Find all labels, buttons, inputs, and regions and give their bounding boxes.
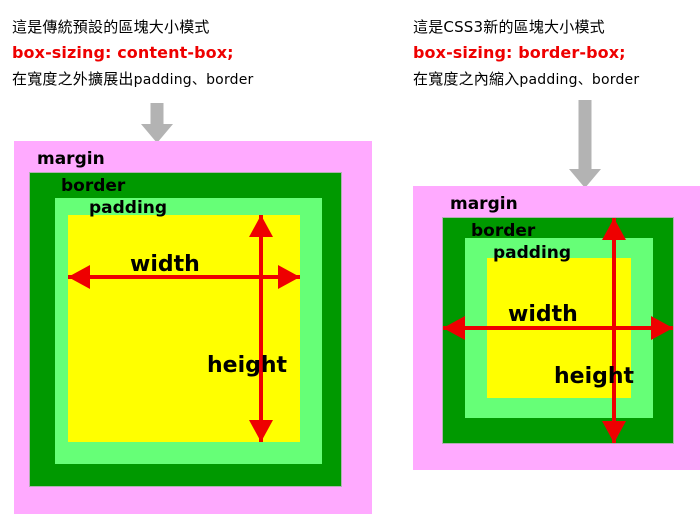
panel-content-box: 這是傳統預設的區塊大小模式 box-sizing: content-box; 在… [0,0,400,514]
label-margin: margin [450,195,518,213]
caption-line-3: 在寬度之外擴展出padding、border [12,66,254,93]
caption-line-1: 這是CSS3新的區塊大小模式 [413,14,639,40]
label-padding: padding [493,244,571,262]
arrow-shaft [579,100,592,170]
caption-line-3-cjk: 在寬度之外擴展出 [12,70,134,88]
label-width: width [130,254,200,276]
label-width: width [508,304,578,326]
label-border: border [61,177,125,195]
arrow-head-right [651,316,673,340]
box-model-border-box: margin border padding width height [413,186,700,470]
arrow-shaft [151,103,164,125]
caption-line-3: 在寬度之內縮入padding、border [413,66,639,93]
arrow-line [612,218,616,443]
caption-code-content-box: box-sizing: content-box; [12,40,254,66]
label-border: border [471,222,535,240]
height-measure-arrow [249,215,273,442]
caption-line-3-latin: padding、border [519,72,639,88]
down-arrow-icon-right [569,100,601,188]
caption-code-border-box: box-sizing: border-box; [413,40,639,66]
label-height: height [554,366,634,388]
arrow-head-left [443,316,465,340]
arrow-head-right [278,265,300,289]
caption-line-3-cjk: 在寬度之內縮入 [413,70,519,88]
down-arrow-icon-left [141,103,173,143]
label-padding: padding [89,199,167,217]
arrow-head-up [249,215,273,237]
box-model-content-box: margin border padding width height [14,141,372,514]
arrow-head-down [249,420,273,442]
arrow-head-down [602,421,626,443]
arrow-head-left [68,265,90,289]
arrow-line [259,215,263,442]
caption-line-1: 這是傳統預設的區塊大小模式 [12,14,254,40]
arrow-head-up [602,218,626,240]
panel-border-box: 這是CSS3新的區塊大小模式 box-sizing: border-box; 在… [400,0,700,514]
caption-border-box: 這是CSS3新的區塊大小模式 box-sizing: border-box; 在… [413,14,639,93]
label-margin: margin [37,150,105,168]
caption-line-3-latin: padding、border [134,72,254,88]
caption-content-box: 這是傳統預設的區塊大小模式 box-sizing: content-box; 在… [12,14,254,93]
height-measure-arrow [602,218,626,443]
label-height: height [207,355,287,377]
